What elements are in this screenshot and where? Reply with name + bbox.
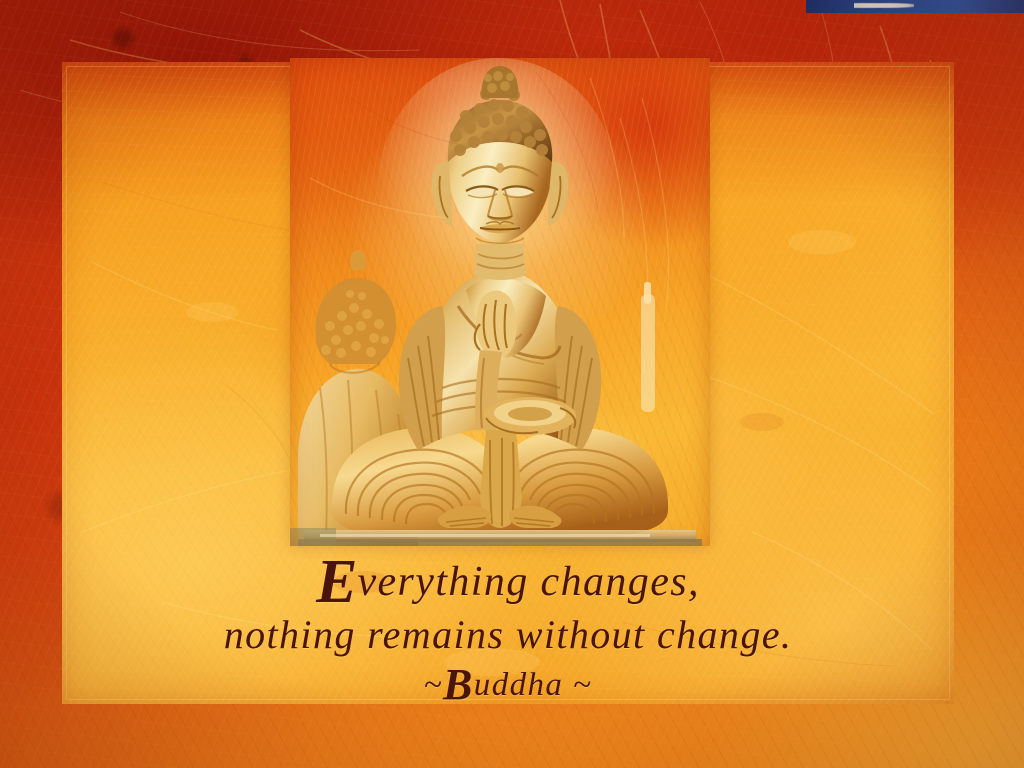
background-column [641,282,655,412]
blue-edge-strip [806,0,1024,13]
buddha-photo [290,58,710,546]
wallpaper-canvas: Everything changes, nothing remains with… [0,0,1024,768]
lap-hands [484,397,576,435]
buddha-statue-illustration [290,58,710,546]
